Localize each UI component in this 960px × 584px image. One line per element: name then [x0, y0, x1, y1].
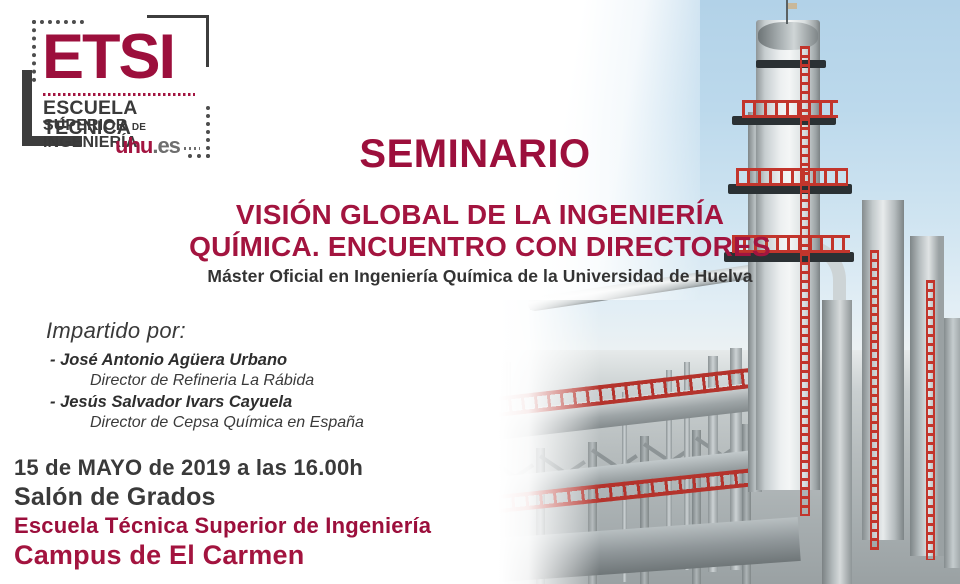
ladder-cage-2	[870, 250, 879, 550]
speaker-role: Director de Refineria La Rábida	[90, 371, 476, 391]
poster-kicker: SEMINARIO	[330, 132, 620, 177]
poster-title-line-2: QUÍMICA. ENCUENTRO CON DIRECTORES	[150, 231, 810, 262]
uhu-name: uhu	[115, 133, 152, 158]
ladder-cage-3	[926, 280, 935, 560]
logo-dots-icon	[184, 147, 200, 150]
event-school: Escuela Técnica Superior de Ingeniería	[14, 512, 484, 540]
speaker-name: - José Antonio Agüera Urbano	[50, 350, 476, 371]
distillation-column-1	[862, 200, 904, 540]
uhu-tld: .es	[152, 133, 180, 158]
column-railing-middle	[736, 168, 848, 186]
event-campus: Campus de El Carmen	[14, 539, 484, 571]
flag	[788, 3, 797, 9]
refinery-photo	[470, 0, 960, 584]
event-datetime: 15 de MAYO de 2019 a las 16.00h	[14, 455, 484, 482]
logo-line-2-a: SUPERIOR	[43, 117, 132, 134]
logo-divider-icon	[43, 93, 195, 96]
speakers-section: Impartido por: - José Antonio Agüera Urb…	[46, 318, 476, 433]
logo-acronym: ETSI	[42, 26, 174, 89]
event-venue: Salón de Grados	[14, 482, 484, 512]
logo-line-2-de: DE	[132, 122, 146, 133]
poster-canvas: ETSI ESCUELA TÉCNICA SUPERIOR DE INGENIE…	[0, 0, 960, 584]
speaker-name: - Jesús Salvador Ivars Cayuela	[50, 392, 476, 413]
column-platform-top	[756, 60, 826, 68]
speakers-heading: Impartido por:	[46, 318, 476, 344]
etsi-logo: ETSI ESCUELA TÉCNICA SUPERIOR DE INGENIE…	[12, 8, 220, 160]
column-railing-upper	[742, 100, 838, 118]
speaker-role: Director de Cepsa Química en España	[90, 413, 476, 433]
distillation-column-3	[822, 300, 852, 584]
distillation-column-4	[944, 318, 960, 568]
speaker-entry: - Jesús Salvador Ivars Cayuela Director …	[46, 392, 476, 434]
uhu-wordmark[interactable]: uhu.es	[115, 135, 180, 157]
poster-subtitle: Máster Oficial en Ingeniería Química de …	[150, 266, 810, 287]
refinery-photo-scene	[470, 0, 960, 584]
speaker-entry: - José Antonio Agüera Urbano Director de…	[46, 350, 476, 392]
poster-title-line-1: VISIÓN GLOBAL DE LA INGENIERÍA	[150, 199, 810, 230]
event-details: 15 de MAYO de 2019 a las 16.00h Salón de…	[14, 455, 484, 572]
